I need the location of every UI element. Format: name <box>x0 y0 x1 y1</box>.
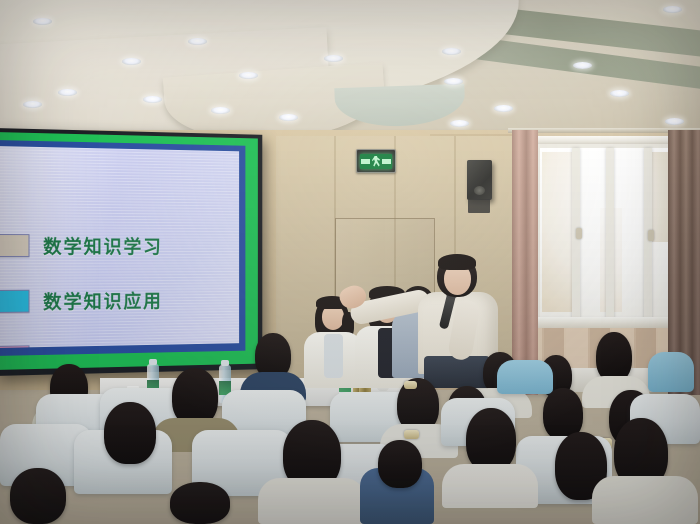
window-glass <box>540 148 688 323</box>
legend-label-2: 数学知识应用 <box>43 287 163 315</box>
downlight <box>58 89 77 96</box>
audience-shoulders <box>442 464 538 508</box>
window-handle[interactable] <box>648 230 654 241</box>
slide-content: 数学知识学习 数学知识应用 跨学科知识融合 <box>0 146 239 348</box>
legend-swatch-3 <box>0 345 29 348</box>
downlight <box>211 107 230 114</box>
audience-shoulders <box>258 478 366 524</box>
legend-item: 数学知识应用 <box>0 286 239 315</box>
ceiling-soffit <box>334 84 465 129</box>
exit-arrow-bar <box>361 159 370 164</box>
hair-clip <box>404 381 417 389</box>
downlight <box>33 18 52 25</box>
speaker-cone-icon <box>474 186 485 195</box>
exit-arrow-bar <box>382 159 391 164</box>
legend-swatch-2 <box>0 290 29 313</box>
conference-room-photo: 数学知识学习 数学知识应用 跨学科知识融合 <box>0 0 700 524</box>
audience-head <box>466 408 516 472</box>
legend-label-3: 跨学科知识融合 <box>43 340 182 348</box>
downlight <box>444 78 463 85</box>
legend-item: 数学知识学习 <box>0 232 239 259</box>
bottle-cap <box>149 359 157 365</box>
slide-legend: 数学知识学习 数学知识应用 跨学科知识融合 <box>0 232 239 348</box>
audience-head <box>596 332 632 382</box>
audience-head <box>104 402 156 464</box>
emergency-exit-sign <box>356 149 396 173</box>
legend-item: 跨学科知识融合 <box>0 339 239 348</box>
downlight <box>122 58 141 65</box>
window-handle[interactable] <box>576 228 582 239</box>
window-glare <box>540 148 688 323</box>
downlight <box>188 38 207 45</box>
downlight <box>143 96 162 103</box>
window-mullion <box>606 148 614 323</box>
presenter-fringe <box>438 254 476 270</box>
audience-head <box>170 482 230 524</box>
curtain-left[interactable] <box>512 130 538 395</box>
presenter-skirt <box>424 356 490 388</box>
bottle-cap <box>221 360 229 366</box>
downlight <box>450 120 469 127</box>
audience-head <box>378 440 422 488</box>
screen-outer-border: 数学知识学习 数学知识应用 跨学科知识融合 <box>0 132 258 370</box>
chair[interactable] <box>497 360 553 394</box>
downlight <box>239 72 258 79</box>
downlight <box>573 62 592 69</box>
downlight <box>663 6 682 13</box>
legend-label-1: 数学知识学习 <box>43 232 163 259</box>
downlight <box>610 90 629 97</box>
downlight <box>279 114 298 121</box>
downlight <box>442 48 461 55</box>
audience-head <box>10 468 66 524</box>
screen-inner-border: 数学知识学习 数学知识应用 跨学科知识融合 <box>0 140 245 356</box>
downlight <box>324 55 343 62</box>
hair-clip <box>404 430 419 439</box>
wall-speaker <box>467 160 492 200</box>
legend-swatch-1 <box>0 234 29 257</box>
speaker-bracket <box>468 199 490 213</box>
projector-screen: 数学知识学习 数学知识应用 跨学科知识融合 <box>0 128 262 376</box>
audience-shoulders <box>592 476 698 524</box>
exit-sign-glow <box>360 154 392 169</box>
running-figure-icon <box>372 156 380 167</box>
downlight <box>665 118 684 125</box>
chair[interactable] <box>648 352 694 392</box>
inner-top <box>324 334 343 378</box>
downlight <box>494 105 513 112</box>
downlight <box>23 101 42 108</box>
